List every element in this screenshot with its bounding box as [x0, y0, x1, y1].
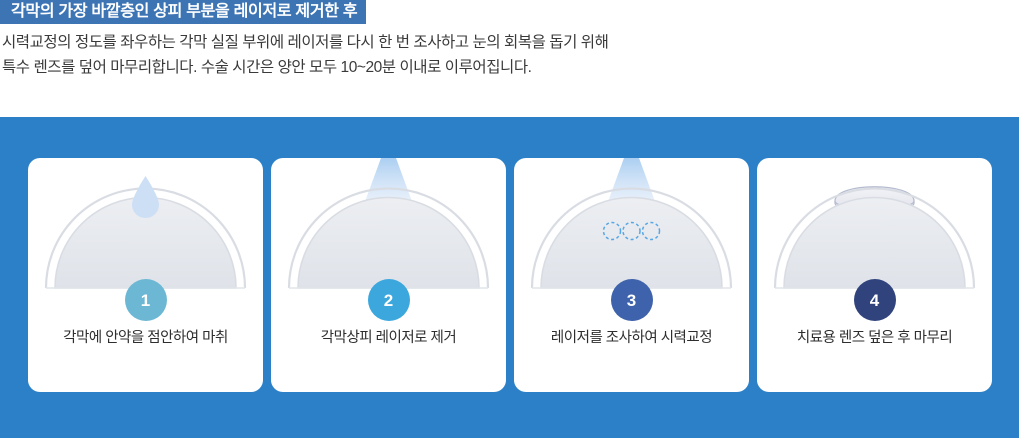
step-number-4: 4 [870, 292, 879, 309]
description-text: 시력교정의 정도를 좌우하는 각막 실질 부위에 레이저를 다시 한 번 조사하… [0, 30, 1019, 80]
step-caption-3: 레이저를 조사하여 시력교정 [514, 326, 749, 347]
step-number-1: 1 [141, 292, 150, 309]
page-title: 각막의 가장 바깥층인 상피 부분을 레이저로 제거한 후 [0, 0, 366, 24]
step-number-badge-3: 3 [611, 279, 653, 321]
step-caption-1: 각막에 안약을 점안하여 마취 [28, 326, 263, 347]
description-line-1: 시력교정의 정도를 좌우하는 각막 실질 부위에 레이저를 다시 한 번 조사하… [2, 30, 1019, 55]
step-number-3: 3 [627, 292, 636, 309]
step-number-badge-1: 1 [125, 279, 167, 321]
step-number-badge-2: 2 [368, 279, 410, 321]
steps-panel: 1 각막에 안약을 점안하여 마취 [0, 117, 1019, 438]
step-caption-2: 각막상피 레이저로 제거 [271, 326, 506, 347]
description-line-2: 특수 렌즈를 덮어 마무리합니다. 수술 시간은 양안 모두 10~20분 이내… [2, 55, 1019, 80]
step-card-2[interactable]: 2 각막상피 레이저로 제거 [271, 158, 506, 392]
eye-drop-icon [132, 176, 159, 218]
steps-card-row: 1 각막에 안약을 점안하여 마취 [28, 158, 992, 392]
step-number-2: 2 [384, 292, 393, 309]
step-number-badge-4: 4 [854, 279, 896, 321]
step-caption-4: 치료용 렌즈 덮은 후 마무리 [757, 326, 992, 347]
step-card-1[interactable]: 1 각막에 안약을 점안하여 마취 [28, 158, 263, 392]
step-card-4[interactable]: 4 치료용 렌즈 덮은 후 마무리 [757, 158, 992, 392]
heading-bar: 각막의 가장 바깥층인 상피 부분을 레이저로 제거한 후 [0, 0, 1019, 24]
step-card-3[interactable]: 3 레이저를 조사하여 시력교정 [514, 158, 749, 392]
